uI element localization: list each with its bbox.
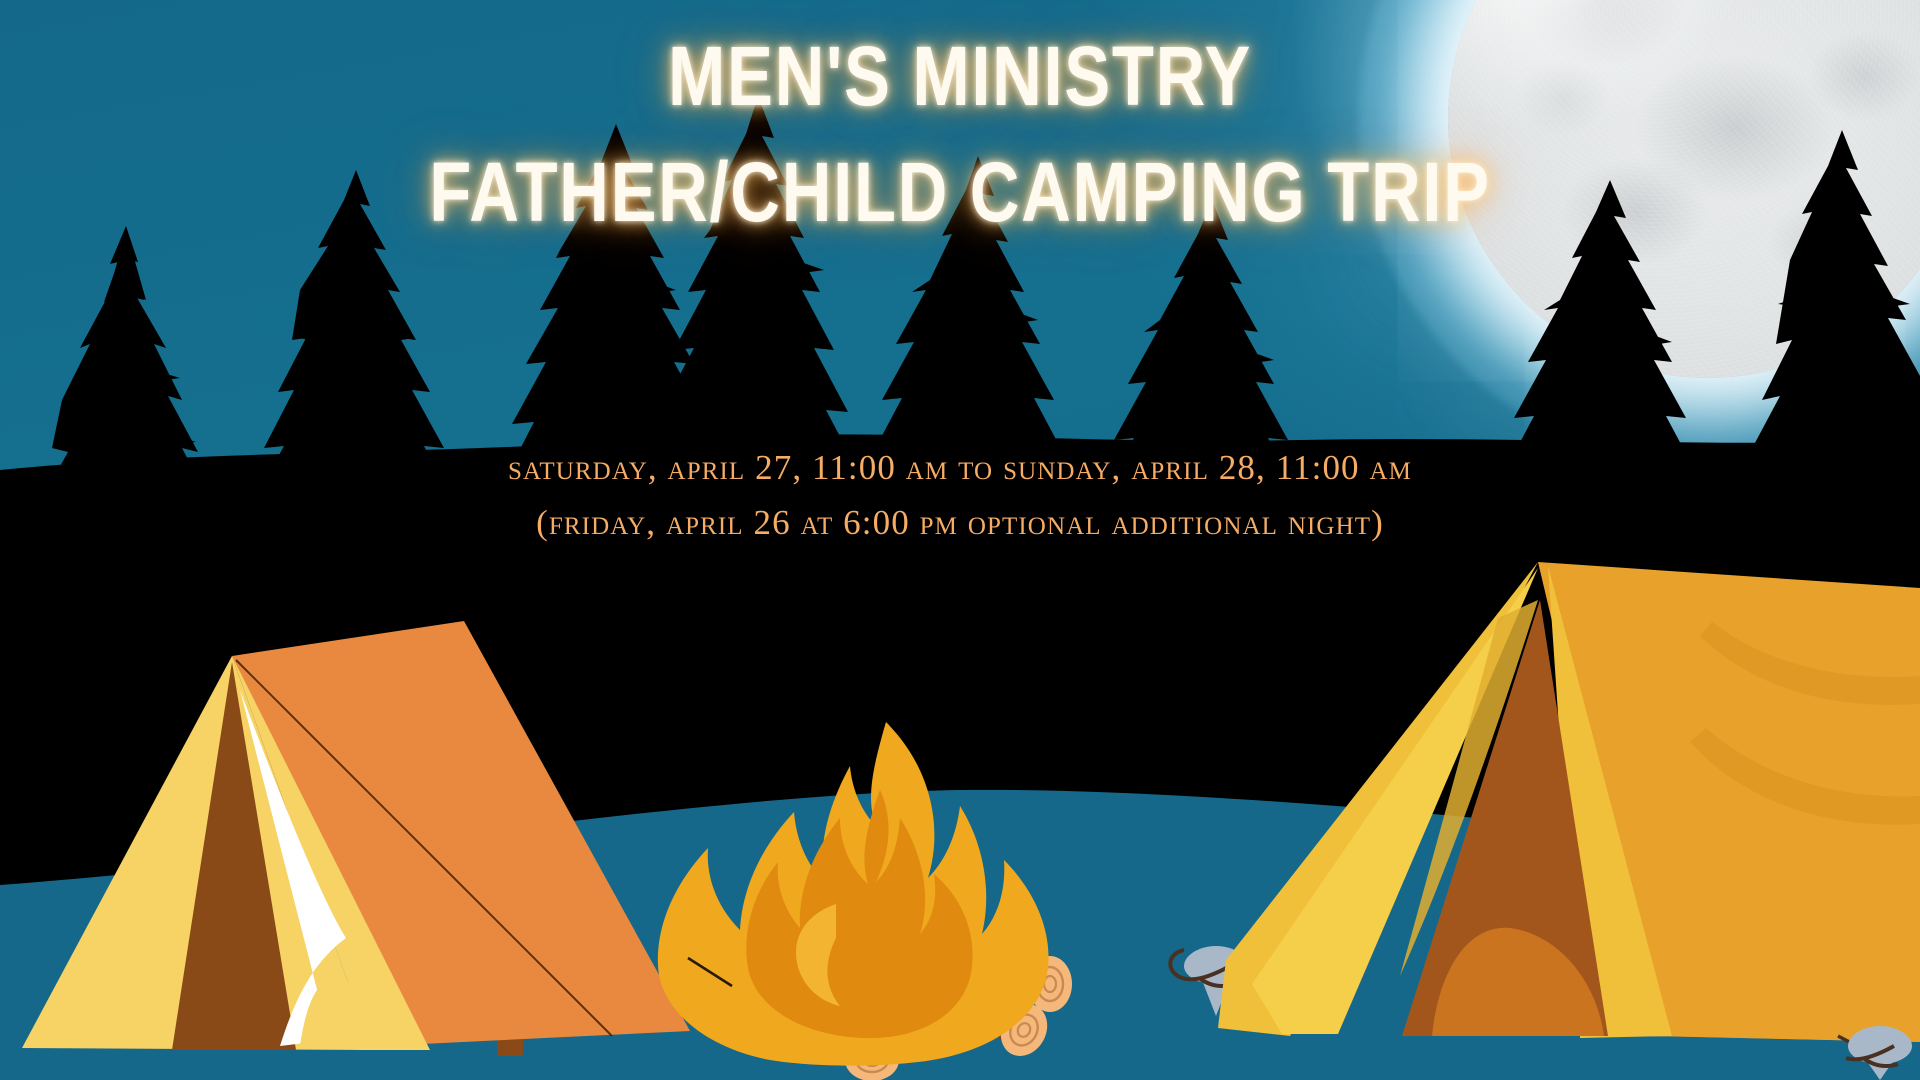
- camping-trip-poster: MEN'S MINISTRY FATHER/CHILD CAMPING TRIP…: [0, 0, 1920, 1080]
- tent-right: [1170, 562, 1920, 1080]
- event-dates-block: SATURDAY, APRIL 27, 11:00 AM TO SUNDAY, …: [0, 440, 1920, 551]
- event-date-line-1: SATURDAY, APRIL 27, 11:00 AM TO SUNDAY, …: [0, 440, 1920, 495]
- tent-stake-icon-right: [1846, 1026, 1912, 1080]
- event-date-line-2: (FRIDAY, APRIL 26 AT 6:00 PM OPTIONAL AD…: [0, 495, 1920, 550]
- campfire-icon: [658, 722, 1072, 1080]
- page-title-line-1: MEN'S MINISTRY: [173, 34, 1747, 118]
- page-title-line-2: FATHER/CHILD CAMPING TRIP: [173, 150, 1747, 234]
- headline-block: MEN'S MINISTRY FATHER/CHILD CAMPING TRIP: [0, 34, 1920, 234]
- tent-left: [22, 621, 690, 1056]
